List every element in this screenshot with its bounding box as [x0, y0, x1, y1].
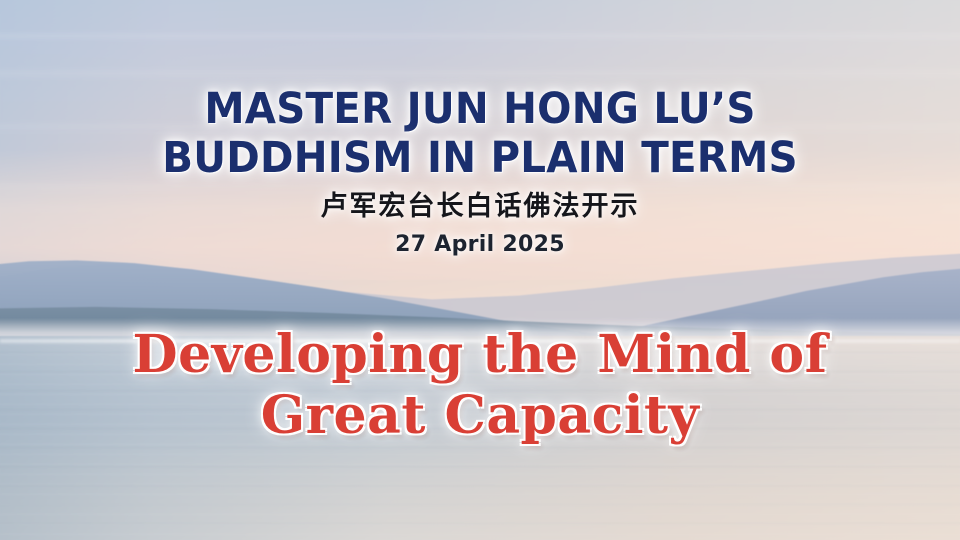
slide-content: MASTER JUN HONG LU’S BUDDHISM IN PLAIN T…: [0, 0, 960, 540]
topic-title: Developing the Mind of Great Capacity: [133, 328, 828, 442]
slide-date: 27 April 2025: [142, 234, 818, 256]
topic-title-line-2: Great Capacity: [133, 389, 828, 442]
topic-title-line-1: Developing the Mind of: [133, 328, 828, 381]
series-title-line-2: BUDDHISM IN PLAIN TERMS: [162, 137, 798, 180]
series-title-line-1: MASTER JUN HONG LU’S: [162, 88, 798, 131]
series-header: MASTER JUN HONG LU’S BUDDHISM IN PLAIN T…: [142, 88, 818, 256]
series-title-chinese: 卢军宏台长白话佛法开示: [142, 193, 818, 220]
title-slide: MASTER JUN HONG LU’S BUDDHISM IN PLAIN T…: [0, 0, 960, 540]
